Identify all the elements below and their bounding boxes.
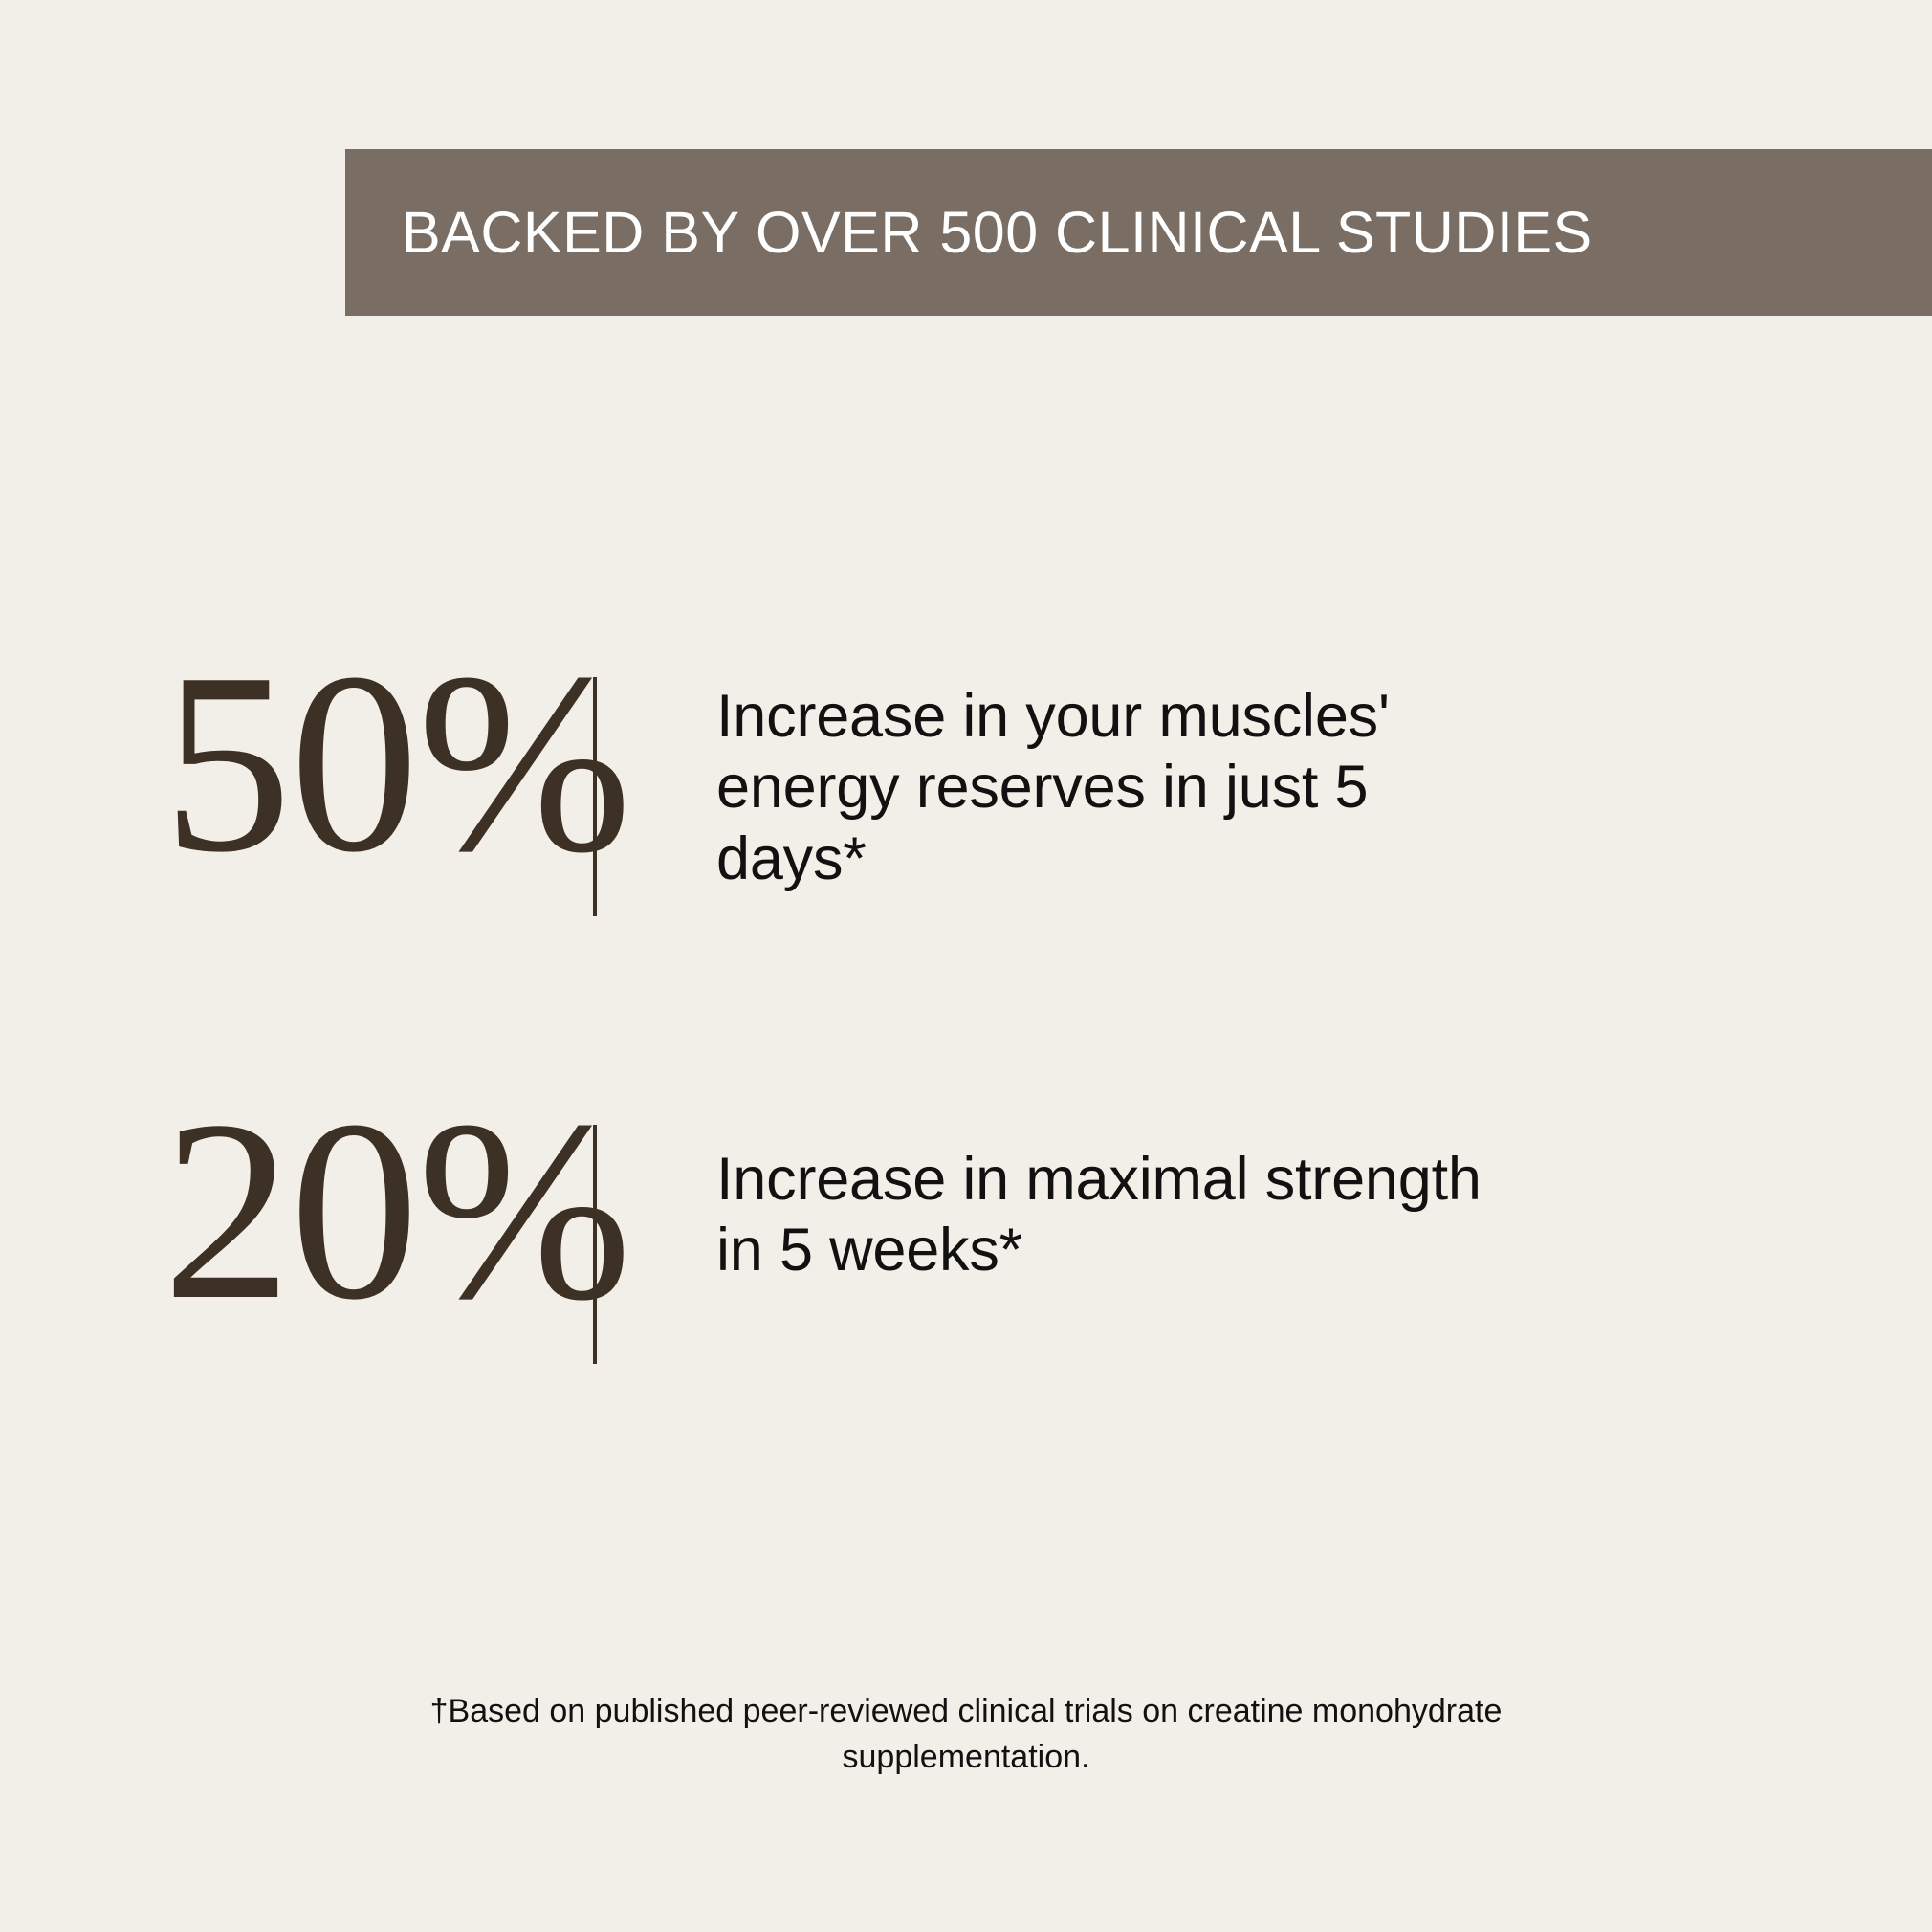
stat-description: Increase in maximal strength in 5 weeks* xyxy=(597,1079,1515,1286)
stat-value: 50% xyxy=(0,631,593,894)
clinical-studies-card: BACKED BY OVER 500 CLINICAL STUDIES 50% … xyxy=(0,0,1932,1932)
stat-description: Increase in your muscles' energy reserve… xyxy=(597,631,1515,894)
footnote-text: †Based on published peer-reviewed clinic… xyxy=(0,1688,1932,1781)
stat-value: 20% xyxy=(0,1079,593,1342)
stat-item: 20% Increase in maximal strength in 5 we… xyxy=(0,1079,1932,1364)
stats-list: 50% Increase in your muscles' energy res… xyxy=(0,631,1932,1526)
banner-title: BACKED BY OVER 500 CLINICAL STUDIES xyxy=(402,204,1592,262)
banner: BACKED BY OVER 500 CLINICAL STUDIES xyxy=(345,149,1932,316)
stat-item: 50% Increase in your muscles' energy res… xyxy=(0,631,1932,916)
